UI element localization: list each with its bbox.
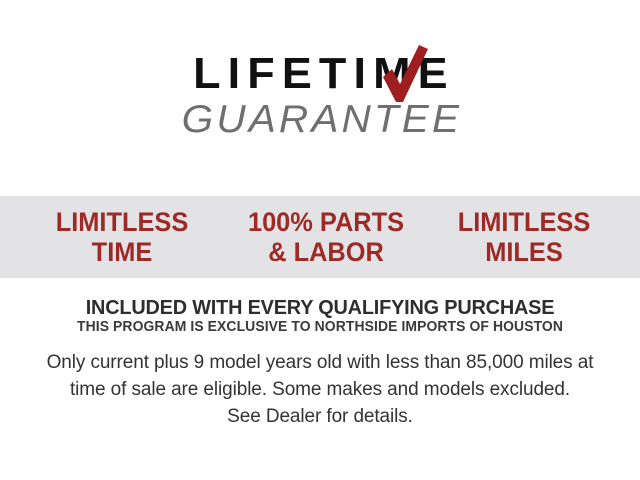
fineprint-block: Only current plus 9 model years old with… [34,350,606,431]
feature-line-2: MILES [439,237,608,268]
logo-lockup: LIFETIME GUARANTEE [184,52,457,141]
feature-line-1: LIMITLESS [439,207,608,238]
fineprint-line: time of sale are eligible. Some makes an… [34,377,606,404]
feature-line-1: 100% PARTS [227,207,424,238]
feature-line-2: TIME [32,237,212,268]
feature-parts-labor: 100% PARTS & LABOR [227,207,424,268]
feature-banner: LIMITLESS TIME 100% PARTS & LABOR LIMITL… [0,196,640,278]
fineprint-line: See Dealer for details. [34,404,606,431]
lifetime-guarantee-ad: LIFETIME GUARANTEE LIMITLESS TIME 100% P… [0,0,640,480]
feature-line-2: & LABOR [227,237,424,268]
feature-limitless-miles: LIMITLESS MILES [439,207,608,268]
subheadline: THIS PROGRAM IS EXCLUSIVE TO NORTHSIDE I… [13,320,627,336]
logo-primary-text: LIFETIME [181,52,459,96]
feature-line-1: LIMITLESS [32,207,212,238]
feature-limitless-time: LIMITLESS TIME [32,207,212,268]
headline: INCLUDED WITH EVERY QUALIFYING PURCHASE [10,297,631,320]
fineprint-line: Only current plus 9 model years old with… [34,350,606,377]
logo-secondary-text: GUARANTEE [178,100,462,141]
logo-block: LIFETIME GUARANTEE [0,52,640,141]
